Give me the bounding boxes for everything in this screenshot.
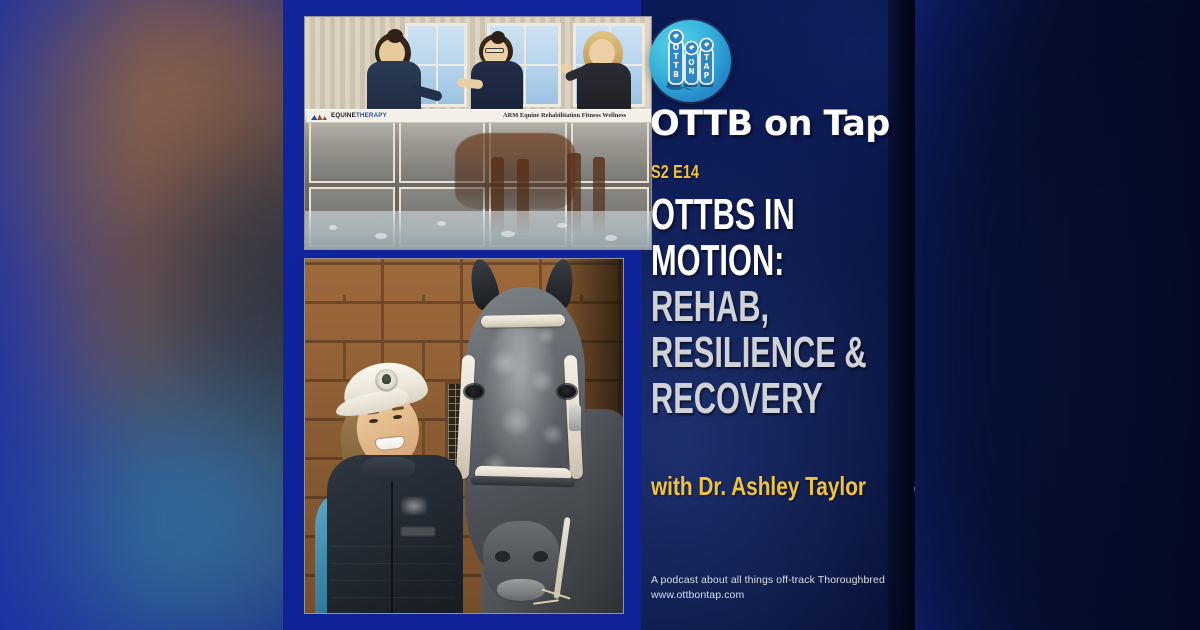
grey-horse-eye-left (465, 385, 483, 398)
svg-text:P: P (704, 71, 710, 80)
treadmill-water (305, 211, 652, 250)
grey-horse-nostril-left (495, 551, 510, 562)
grey-horse-nostril-right (533, 551, 548, 562)
tank-signage-strip: EQUINETHERAPY ARM Equine Rehabilitation … (307, 110, 651, 122)
grey-horse-lip (497, 579, 545, 601)
technician-right-hand (561, 63, 571, 73)
episode-info-panel: O T T B O N T A P (649, 0, 899, 630)
guest-credit: with Dr. Ashley Taylor(Part 1) (651, 471, 915, 502)
svg-text:T: T (704, 53, 710, 62)
episode-title-line: OTTBS IN (651, 192, 826, 238)
podcast-cover-canvas: EQUINETHERAPY ARM Equine Rehabilitation … (0, 0, 1200, 630)
eyeglasses-icon (485, 48, 504, 53)
signage-equinetherapy-left: EQUINE (331, 112, 356, 119)
beer-tap-handles-icon: O T T B O N T A P (649, 20, 731, 102)
episode-title-line: RECOVERY (651, 376, 826, 422)
footer-block: A podcast about all things off-track Tho… (651, 573, 885, 603)
episode-number-badge: S2 E14 (651, 162, 699, 183)
signage-arm-text: ARM Equine Rehabilitation Fitness Wellne… (503, 110, 626, 122)
vest-quilting (331, 545, 455, 614)
cap-logo-tree-icon (382, 374, 391, 384)
grey-horse-eye-right (558, 385, 576, 398)
ottb-on-tap-logo[interactable]: O T T B O N T A P (649, 20, 731, 102)
svg-text:B: B (673, 70, 679, 79)
svg-text:O: O (688, 58, 694, 67)
svg-text:T: T (673, 52, 679, 61)
veterinarian-with-grey-horse-photo (304, 258, 624, 614)
tagline: A podcast about all things off-track Tho… (651, 573, 885, 588)
guest-name: with Dr. Ashley Taylor (651, 471, 866, 502)
svg-text:A: A (704, 62, 710, 71)
vest-embroidered-logo (401, 497, 427, 515)
halter-crownpiece (481, 314, 565, 327)
vest-zipper (391, 471, 393, 614)
vest-collar (363, 457, 415, 481)
signage-equinetherapy-right: THERAPY (356, 112, 387, 119)
svg-text:N: N (688, 67, 694, 76)
episode-title: OTTBS IN MOTION: REHAB, RESILIENCE & REC… (651, 192, 901, 422)
technician-middle-bun (491, 31, 505, 44)
halter-hardware (569, 405, 581, 431)
vest-embroidered-text (401, 527, 435, 536)
cover-card: EQUINETHERAPY ARM Equine Rehabilitation … (283, 0, 915, 630)
episode-title-line: MOTION: (651, 238, 826, 284)
equinetherapy-logo-icon (311, 113, 327, 120)
horse-legs-underwater (455, 133, 575, 209)
svg-text:T: T (673, 61, 679, 70)
svg-text:O: O (673, 43, 679, 52)
show-title: OTTB on Tap (650, 104, 890, 144)
equine-aqua-treadmill-photo: EQUINETHERAPY ARM Equine Rehabilitation … (304, 16, 652, 250)
episode-title-line: RESILIENCE & (651, 330, 826, 376)
guest-part-label: (Part 1) (914, 480, 915, 497)
episode-title-line: REHAB, (651, 284, 826, 330)
website-url[interactable]: www.ottbontap.com (651, 588, 885, 603)
underwater-treadmill-tank (305, 113, 652, 250)
technician-left-bun (387, 29, 403, 43)
